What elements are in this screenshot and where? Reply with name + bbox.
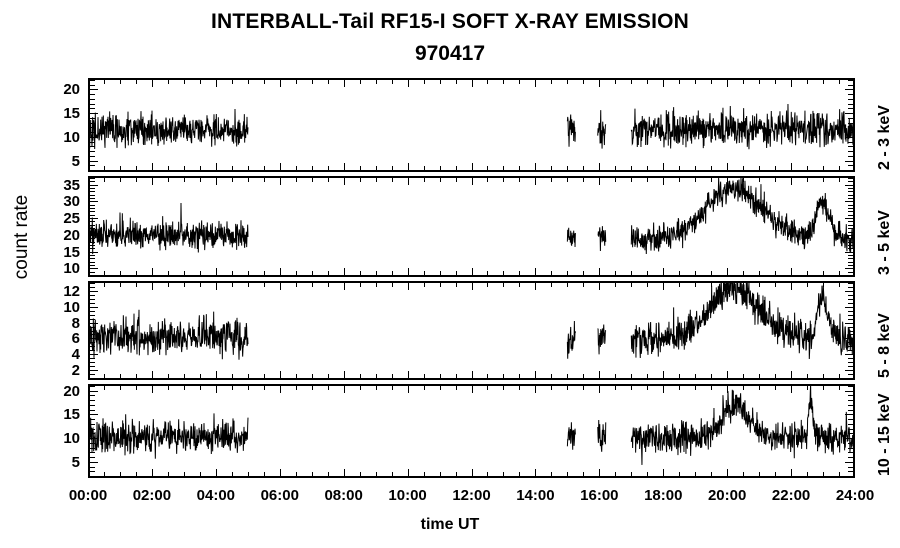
count-rate-trace [90, 283, 853, 360]
trace-segment-1 [90, 413, 248, 458]
y-tick-label: 10 [22, 431, 80, 446]
chart-panel-4 [88, 384, 855, 478]
trace-segment-3 [598, 324, 606, 354]
energy-band-label-2: 3 - 5 keV [876, 210, 894, 275]
trace-segment-2 [567, 228, 575, 247]
energy-band-label-4: 10 - 15 keV [876, 393, 894, 476]
chart-title: INTERBALL-Tail RF15-I SOFT X-RAY EMISSIO… [0, 10, 900, 34]
trace-segment-4 [631, 386, 853, 465]
y-tick-label: 20 [22, 82, 80, 97]
y-tick-label: 20 [22, 384, 80, 399]
trace-segment-3 [598, 420, 606, 452]
chart-subtitle: 970417 [0, 42, 900, 66]
trace-segment-2 [567, 321, 575, 359]
trace-segment-2 [567, 115, 575, 147]
x-tick-label: 24:00 [815, 488, 895, 503]
trace-segment-4 [631, 283, 853, 359]
energy-band-label-3: 5 - 8 keV [876, 313, 894, 378]
count-rate-trace [90, 178, 853, 254]
y-tick-label: 5 [22, 154, 80, 169]
y-tick-label: 15 [22, 245, 80, 260]
y-tick-label: 6 [22, 331, 80, 346]
chart-panel-3 [88, 281, 855, 380]
trace-segment-1 [90, 203, 248, 254]
trace-segment-4 [631, 104, 853, 149]
y-tick-label: 30 [22, 194, 80, 209]
y-tick-label: 35 [22, 178, 80, 193]
panel-plot-area [90, 283, 853, 378]
panel-plot-area [90, 386, 853, 476]
trace-segment-3 [598, 110, 606, 148]
trace-segment-2 [567, 422, 575, 450]
energy-band-label-1: 2 - 3 keV [876, 105, 894, 170]
y-tick-label: 12 [22, 284, 80, 299]
count-rate-trace [90, 386, 853, 465]
y-tick-label: 20 [22, 228, 80, 243]
chart-root: INTERBALL-Tail RF15-I SOFT X-RAY EMISSIO… [0, 0, 900, 548]
trace-segment-3 [598, 226, 606, 251]
y-tick-label: 15 [22, 106, 80, 121]
y-tick-label: 25 [22, 211, 80, 226]
chart-panel-1 [88, 78, 855, 172]
y-tick-label: 10 [22, 261, 80, 276]
x-axis-label: time UT [0, 516, 900, 534]
count-rate-trace [90, 104, 853, 149]
panel-plot-area [90, 80, 853, 170]
trace-segment-4 [631, 178, 853, 254]
y-tick-label: 10 [22, 130, 80, 145]
panel-plot-area [90, 178, 853, 275]
y-tick-label: 10 [22, 300, 80, 315]
y-tick-label: 2 [22, 363, 80, 378]
y-tick-label: 4 [22, 347, 80, 362]
chart-panel-2 [88, 176, 855, 277]
y-tick-label: 8 [22, 316, 80, 331]
y-tick-label: 15 [22, 407, 80, 422]
trace-segment-1 [90, 310, 248, 360]
y-tick-label: 5 [22, 455, 80, 470]
trace-segment-1 [90, 109, 248, 149]
